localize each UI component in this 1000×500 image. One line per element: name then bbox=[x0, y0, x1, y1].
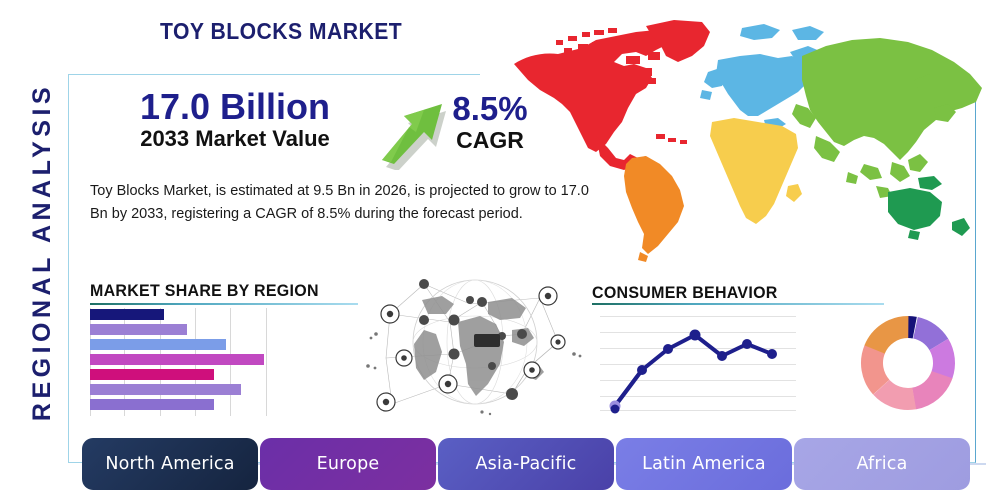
vertical-section-label: REGIONAL ANALYSIS bbox=[22, 42, 62, 462]
region-chip-label: Europe bbox=[317, 454, 380, 474]
table-row bbox=[90, 399, 214, 410]
region-chip-label: Asia-Pacific bbox=[475, 454, 576, 474]
consumer-behavior-line-chart bbox=[600, 310, 796, 415]
consumer-behavior-panel-title: CONSUMER BEHAVIOR bbox=[592, 283, 778, 303]
table-row bbox=[90, 324, 187, 335]
region-chip-asia-pacific[interactable]: Asia-Pacific bbox=[438, 438, 614, 490]
region-chip-label: North America bbox=[105, 454, 234, 474]
global-network-globe-icon bbox=[362, 272, 588, 420]
kpi-market-value-label: 2033 Market Value bbox=[100, 126, 370, 151]
region-chip-africa[interactable]: Africa bbox=[794, 438, 970, 490]
region-chip-label: Latin America bbox=[642, 454, 766, 474]
region-chip-bar: North America Europe Asia-Pacific Latin … bbox=[82, 438, 962, 490]
infographic-root: REGIONAL ANALYSIS TOY BLOCKS MARKET 17.0… bbox=[0, 0, 1000, 500]
table-row bbox=[90, 354, 264, 365]
market-share-title-rule bbox=[90, 303, 358, 305]
region-chip-europe[interactable]: Europe bbox=[260, 438, 436, 490]
market-share-bar-chart bbox=[90, 308, 280, 416]
kpi-market-value-number: 17.0 Billion bbox=[100, 88, 370, 126]
consumer-segment-donut-chart bbox=[855, 310, 961, 416]
market-share-panel-title: MARKET SHARE BY REGION bbox=[90, 281, 319, 301]
table-row bbox=[90, 384, 241, 395]
world-map-icon bbox=[496, 12, 990, 268]
region-chip-north-america[interactable]: North America bbox=[82, 438, 258, 490]
region-chip-label: Africa bbox=[856, 454, 907, 474]
region-chip-latin-america[interactable]: Latin America bbox=[616, 438, 792, 490]
kpi-market-value: 17.0 Billion 2033 Market Value bbox=[100, 88, 370, 151]
table-row bbox=[90, 309, 164, 320]
page-title: TOY BLOCKS MARKET bbox=[160, 18, 402, 45]
consumer-behavior-title-rule bbox=[592, 303, 884, 305]
table-row bbox=[90, 339, 226, 350]
table-row bbox=[90, 369, 214, 380]
